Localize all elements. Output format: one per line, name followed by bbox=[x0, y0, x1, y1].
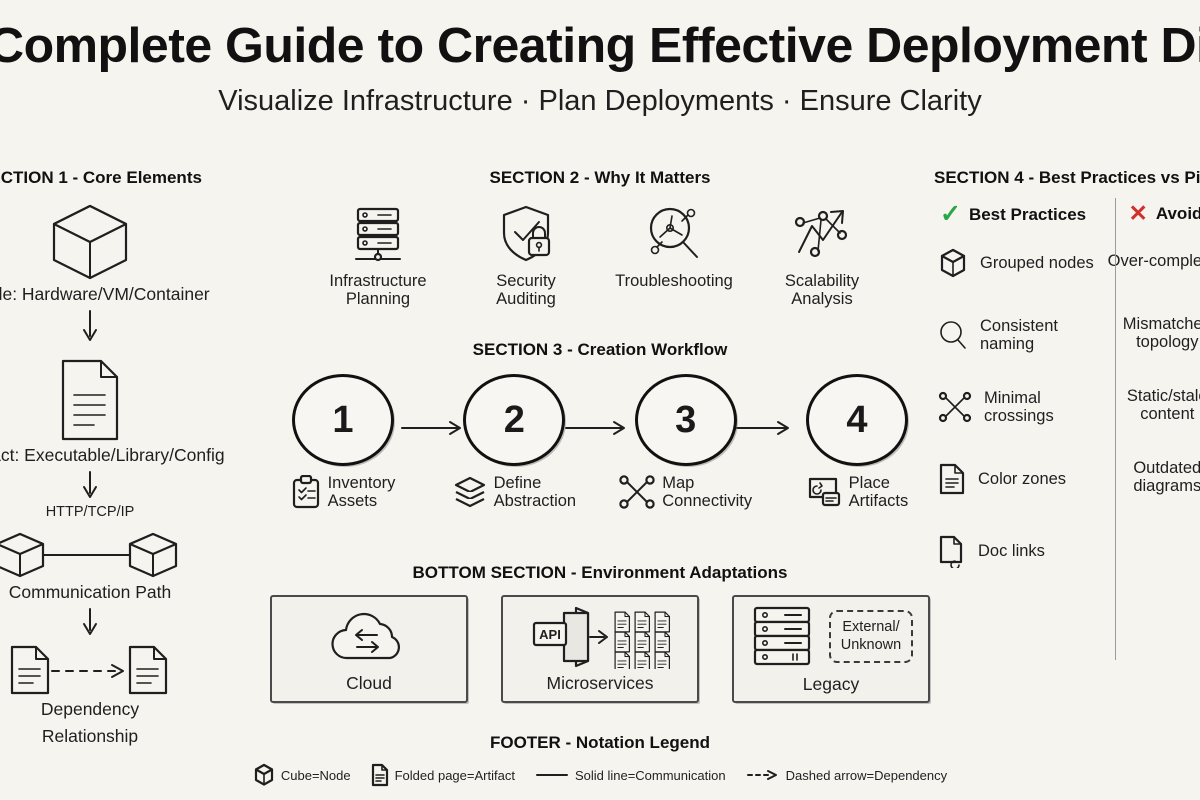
benefit-label: Infrastructure Planning bbox=[329, 272, 426, 309]
section-3-creation-workflow: SECTION 3 - Creation Workflow 1 bbox=[270, 340, 930, 510]
env-card-cloud: Cloud bbox=[270, 595, 468, 703]
check-icon: ✓ bbox=[940, 202, 961, 227]
workflow-step-1: 1 Inventory Assets bbox=[284, 374, 402, 510]
best-practice-label: Grouped nodes bbox=[980, 254, 1094, 272]
best-practices-column: ✓ Best Practices Grouped nodes bbox=[920, 202, 1095, 587]
page-title: Complete Guide to Creating Effective Dep… bbox=[0, 22, 1200, 71]
magnifier-icon bbox=[938, 319, 968, 351]
benefit-troubleshooting: Troubleshooting bbox=[604, 202, 744, 309]
cube-icon bbox=[938, 247, 968, 279]
poster-header: Complete Guide to Creating Effective Dep… bbox=[0, 0, 1200, 118]
cloud-sync-icon bbox=[323, 605, 415, 669]
dashed-arrow-icon bbox=[746, 769, 780, 781]
step-label: Define Abstraction bbox=[494, 474, 577, 510]
footer-notation-legend: FOOTER - Notation Legend Cube=Node Folde… bbox=[0, 733, 1200, 787]
section-1-heading: SECTION 1 - Core Elements bbox=[0, 168, 220, 188]
benefit-security-auditing: Security Auditing bbox=[456, 202, 596, 309]
best-practice-doc-links: Doc links bbox=[920, 515, 1095, 587]
document-icon bbox=[371, 763, 389, 787]
poster-canvas: Complete Guide to Creating Effective Dep… bbox=[0, 0, 1200, 800]
crossings-icon bbox=[938, 391, 972, 423]
bottom-section-environment-adaptations: BOTTOM SECTION - Environment Adaptations… bbox=[270, 563, 930, 703]
step-label: Inventory Assets bbox=[328, 474, 396, 510]
best-practice-label: Color zones bbox=[978, 470, 1066, 488]
legend-text: Dashed arrow=Dependency bbox=[786, 768, 948, 783]
core-element-artifact-label: Artifact: Executable/Library/Config bbox=[0, 445, 220, 466]
pitfall-over-complexity: Over-complexity bbox=[1095, 225, 1200, 297]
section-4-heading: SECTION 4 - Best Practices vs Pitfalls bbox=[920, 168, 1200, 188]
section-2-why-it-matters: SECTION 2 - Why It Matters Infrastructur… bbox=[300, 168, 900, 309]
best-practice-color-zones: Color zones bbox=[920, 443, 1095, 515]
env-card-legacy: External/ Unknown Legacy bbox=[732, 595, 930, 703]
benefit-label: Scalability Analysis bbox=[785, 272, 859, 309]
benefit-scalability-analysis: Scalability Analysis bbox=[752, 202, 892, 309]
api-badge-text: API bbox=[539, 627, 561, 642]
protocol-label: HTTP/TCP/IP bbox=[0, 504, 220, 520]
shield-lock-icon bbox=[494, 202, 558, 266]
best-practice-grouped-nodes: Grouped nodes bbox=[920, 227, 1095, 299]
pitfall-mismatched-topology: Mismatched topology bbox=[1095, 297, 1200, 369]
pitfall-label: Over-complexity bbox=[1108, 252, 1200, 270]
document-lines-icon bbox=[938, 462, 966, 496]
two-cubes-link-icon bbox=[0, 522, 195, 582]
pitfall-static-content: Static/stale content bbox=[1095, 369, 1200, 441]
section-4-divider bbox=[1115, 198, 1116, 660]
arrow-down-icon bbox=[79, 607, 101, 639]
section-2-heading: SECTION 2 - Why It Matters bbox=[300, 168, 900, 188]
env-card-microservices: API bbox=[501, 595, 699, 703]
clipboard-check-icon bbox=[291, 475, 321, 509]
communication-path-label: Communication Path bbox=[0, 582, 220, 603]
bottom-section-heading: BOTTOM SECTION - Environment Adaptations bbox=[270, 563, 930, 583]
growth-chart-icon bbox=[790, 202, 854, 266]
network-nodes-icon bbox=[619, 475, 655, 509]
two-documents-dashed-icon bbox=[0, 641, 190, 699]
core-element-communication: HTTP/TCP/IP Communication Path bbox=[0, 504, 220, 603]
env-card-label: Cloud bbox=[346, 673, 392, 694]
doc-link-icon bbox=[938, 534, 966, 568]
benefit-label: Security Auditing bbox=[496, 272, 556, 309]
core-element-dependency: Dependency Relationship bbox=[0, 641, 220, 747]
section-1-core-elements: SECTION 1 - Core Elements Node: Hardware… bbox=[0, 168, 220, 747]
step-number: 1 bbox=[292, 374, 394, 466]
legend-item-solid-line: Solid line=Communication bbox=[535, 768, 726, 783]
arrow-down-icon bbox=[79, 309, 101, 345]
best-practice-minimal-crossings: Minimal crossings bbox=[920, 371, 1095, 443]
magnifier-network-icon bbox=[642, 202, 706, 266]
workflow-step-3: 3 Map Connectivity bbox=[627, 374, 745, 510]
legend-text: Folded page=Artifact bbox=[395, 768, 515, 783]
env-card-label: Microservices bbox=[547, 673, 654, 694]
external-unknown-box: External/ Unknown bbox=[829, 610, 913, 663]
best-practice-label: Minimal crossings bbox=[984, 389, 1054, 426]
best-practices-header: ✓ Best Practices bbox=[920, 202, 1095, 227]
legend-item-folded-page: Folded page=Artifact bbox=[371, 763, 515, 787]
server-rack-icon bbox=[346, 202, 410, 266]
pitfall-label: Outdated diagrams bbox=[1133, 459, 1200, 496]
document-icon bbox=[53, 355, 127, 445]
cube-icon bbox=[40, 198, 140, 284]
step-label: Place Artifacts bbox=[849, 474, 909, 510]
benefit-label: Troubleshooting bbox=[615, 272, 733, 290]
core-element-node: Node: Hardware/VM/Container bbox=[0, 198, 220, 305]
section-4-best-practices-vs-pitfalls: SECTION 4 - Best Practices vs Pitfalls ✓… bbox=[920, 168, 1200, 587]
pitfall-label: Static/stale content bbox=[1127, 387, 1200, 424]
legend-item-cube: Cube=Node bbox=[253, 763, 351, 787]
best-practice-label: Consistent naming bbox=[980, 317, 1058, 354]
workflow-step-4: 4 Place Artifacts bbox=[798, 374, 916, 510]
page-subtitle: Visualize Infrastructure · Plan Deployme… bbox=[0, 85, 1200, 118]
workflow-step-2: 2 Define Abstraction bbox=[455, 374, 573, 510]
footer-heading: FOOTER - Notation Legend bbox=[0, 733, 1200, 753]
step-number: 4 bbox=[806, 374, 908, 466]
solid-line-icon bbox=[535, 769, 569, 781]
best-practices-label: Best Practices bbox=[969, 205, 1086, 225]
env-card-label: Legacy bbox=[803, 674, 859, 695]
pitfalls-column: ✕ Avoid Over-complexity Mismatched topol… bbox=[1095, 202, 1200, 587]
step-number: 2 bbox=[463, 374, 565, 466]
cube-icon bbox=[253, 763, 275, 787]
place-artifacts-icon bbox=[806, 475, 842, 509]
legend-item-dashed-arrow: Dashed arrow=Dependency bbox=[746, 768, 948, 783]
pitfall-outdated-diagrams: Outdated diagrams bbox=[1095, 441, 1200, 513]
arrow-down-icon bbox=[79, 470, 101, 502]
dependency-label: Dependency bbox=[0, 699, 220, 720]
step-number: 3 bbox=[635, 374, 737, 466]
best-practice-consistent-naming: Consistent naming bbox=[920, 299, 1095, 371]
api-gateway-icon: API bbox=[520, 605, 680, 669]
layers-icon bbox=[453, 475, 487, 509]
pitfalls-label: Avoid bbox=[1156, 204, 1200, 224]
core-element-artifact: Artifact: Executable/Library/Config bbox=[0, 355, 220, 466]
benefit-infrastructure-planning: Infrastructure Planning bbox=[308, 202, 448, 309]
core-element-node-label: Node: Hardware/VM/Container bbox=[0, 284, 220, 305]
legacy-server-icon bbox=[749, 604, 815, 670]
legend-text: Cube=Node bbox=[281, 768, 351, 783]
pitfall-label: Mismatched topology bbox=[1123, 315, 1200, 352]
workflow-steps: 1 Inventory Assets 2 bbox=[270, 374, 930, 510]
step-label: Map Connectivity bbox=[662, 474, 752, 510]
pitfalls-header: ✕ Avoid bbox=[1095, 202, 1200, 225]
best-practice-label: Doc links bbox=[978, 542, 1045, 560]
legend-text: Solid line=Communication bbox=[575, 768, 726, 783]
close-icon: ✕ bbox=[1129, 202, 1148, 225]
section-3-heading: SECTION 3 - Creation Workflow bbox=[270, 340, 930, 360]
